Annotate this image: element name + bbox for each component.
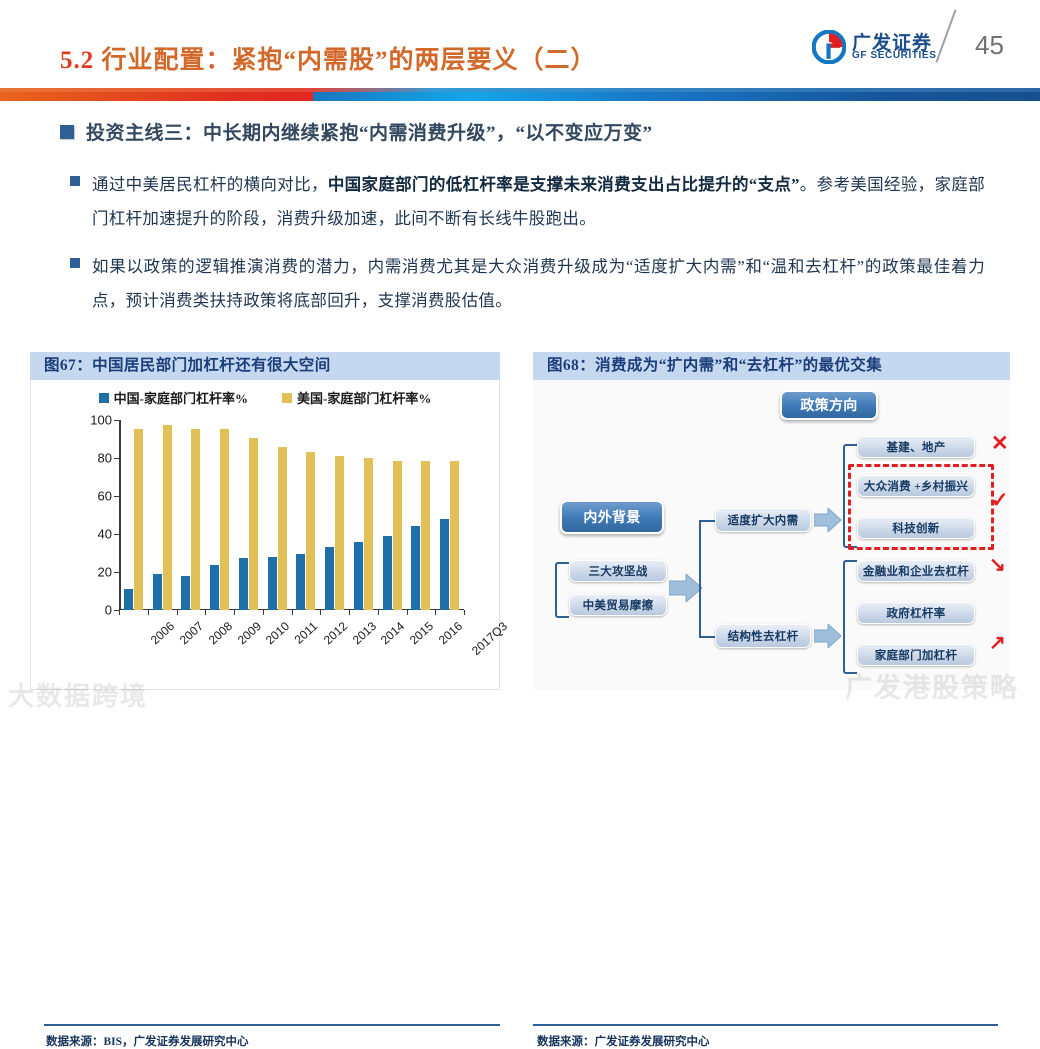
arrow-deleverage-to-right-icon [814,624,842,648]
bar-china [124,589,133,610]
x-axis-tick-label: 2012 [321,619,350,647]
bar-usa [278,447,287,610]
logo-english-text: GF SECURITIES [852,50,936,61]
mark-down-arrow-icon: ↘ [989,552,1006,577]
logo-mark-icon [812,30,846,64]
section-subheading-label: 投资主线三：中长期内继续紧抱“内需消费升级”，“以不变应万变” [86,118,653,145]
bar-chart-plot-area: 0204060801002006200720082009201020112012… [119,420,464,610]
node-household-leverage[interactable]: 家庭部门加杠杆 [857,644,975,666]
bar-china [411,526,420,610]
bar-group [292,420,321,610]
arrow-demand-to-right-icon [814,508,842,532]
bar-usa [134,429,143,610]
figure-68-panel: 图68：消费成为“扩内需”和“去杠杆”的最优交集 政策方向 内外背景 三大攻坚战… [533,352,1010,690]
y-axis-tick-label: 80 [98,451,112,466]
policy-flow-diagram: 政策方向 内外背景 三大攻坚战 中美贸易摩擦 适度扩大内需 结构性去杠杆 [533,380,1010,690]
figure-67-source: 数据来源：BIS，广发证券发展研究中心 [46,1033,249,1049]
legend-swatch-usa [282,393,292,403]
x-axis-tick-mark [349,610,350,615]
x-axis-tick-mark [292,610,293,615]
node-expand-demand[interactable]: 适度扩大内需 [715,508,811,532]
bar-usa [220,429,229,610]
bar-usa [306,452,315,610]
page-title: 5.2 行业配置：紧抱“内需股”的两层要义（二） [60,40,597,76]
y-axis-tick-label: 20 [98,565,112,580]
bar-group [263,420,292,610]
bar-usa [393,461,402,610]
x-axis-tick-label: 2013 [350,619,379,647]
bar-usa [163,425,172,610]
figure-68-source-rule [533,1024,998,1026]
bar-group [435,420,464,610]
node-finance-corp-deleverage[interactable]: 金融业和企业去杠杆 [857,560,975,582]
bar-usa [450,461,459,610]
node-policy-direction[interactable]: 政策方向 [780,390,878,420]
figure-67-body: 中国-家庭部门杠杆率% 美国-家庭部门杠杆率% 0204060801002006… [30,380,500,690]
x-axis-tick-mark [263,610,264,615]
bar-group [378,420,407,610]
page-number: 45 [975,30,1004,61]
legend-item-usa: 美国-家庭部门杠杆率% [282,388,431,407]
x-axis-tick-label: 2014 [378,619,407,647]
bar-china [440,519,449,610]
legend-item-china: 中国-家庭部门杠杆率% [99,388,248,407]
node-three-battles[interactable]: 三大攻坚战 [569,560,667,582]
figure-68-source: 数据来源：广发证券发展研究中心 [537,1033,710,1049]
mark-cross-icon: ✕ [991,431,1009,456]
x-axis-tick-mark [234,610,235,615]
section-subheading: 投资主线三：中长期内继续紧抱“内需消费升级”，“以不变应万变” [60,118,653,145]
node-government-leverage[interactable]: 政府杠杆率 [857,602,975,624]
bar-china [181,576,190,610]
bullet-square-icon [60,125,74,139]
y-axis-tick-label: 0 [105,603,112,618]
bar-china [268,557,277,610]
x-axis-tick-mark [320,610,321,615]
slide-header: 5.2 行业配置：紧抱“内需股”的两层要义（二） 广发证券 GF SECURIT… [0,0,1040,100]
header-accent-bar [0,92,1040,101]
x-axis-tick-mark [435,610,436,615]
gf-securities-logo: 广发证券 GF SECURITIES [812,28,940,68]
x-axis-tick-label: 2016 [436,619,465,647]
figure-67-source-rule [44,1024,500,1026]
connector-middle-top [699,520,715,522]
x-axis-tick-label: 2007 [177,619,206,647]
x-axis-tick-mark [205,610,206,615]
x-axis-tick-mark [177,610,178,615]
figure-67-title: 图67：中国居民部门加杠杆还有很大空间 [30,352,500,380]
connector-middle-vertical [699,520,701,638]
title-number: 5.2 [60,47,94,74]
x-axis-tick-mark [407,610,408,615]
bar-group [320,420,349,610]
bar-group [177,420,206,610]
x-axis-tick-mark [378,610,379,615]
x-axis-tick-label: 2011 [292,619,321,647]
bar-china [354,542,363,610]
x-axis-tick-label: 2006 [148,619,177,647]
legend-swatch-china [99,393,109,403]
bullet-square-icon [70,258,80,268]
bar-group [205,420,234,610]
bar-group [119,420,148,610]
paragraph-1-text: 通过中美居民杠杆的横向对比，中国家庭部门的低杠杆率是支撑未来消费支出占比提升的“… [92,168,985,236]
bar-usa [249,438,258,610]
bar-usa [364,458,373,610]
bracket-left-group [555,562,569,618]
mark-up-arrow-icon: ↗ [989,630,1006,655]
x-axis-tick-label: 2017Q3 [469,619,510,658]
paragraph-1: 通过中美居民杠杆的横向对比，中国家庭部门的低杠杆率是支撑未来消费支出占比提升的“… [70,168,985,236]
paragraph-2: 如果以政策的逻辑推演消费的潜力，内需消费尤其是大众消费升级成为“适度扩大内需”和… [70,250,985,318]
legend-label-china: 中国-家庭部门杠杆率% [114,388,248,407]
x-axis-tick-mark [148,610,149,615]
x-axis-tick-label: 2009 [235,619,264,647]
node-infra-realestate[interactable]: 基建、地产 [857,436,975,458]
mark-check-icon: ✓ [991,488,1009,513]
paragraph-1-part-a: 通过中美居民杠杆的横向对比， [92,175,328,194]
bracket-right-lower [843,560,857,674]
figure-68-body: 政策方向 内外背景 三大攻坚战 中美贸易摩擦 适度扩大内需 结构性去杠杆 [533,380,1010,690]
chart-legend: 中国-家庭部门杠杆率% 美国-家庭部门杠杆率% [31,388,499,407]
x-axis-tick-label: 2015 [407,619,436,647]
paragraph-2-text: 如果以政策的逻辑推演消费的潜力，内需消费尤其是大众消费升级成为“适度扩大内需”和… [92,250,985,318]
arrow-left-to-middle-icon [669,574,703,602]
bar-china [210,565,219,610]
bar-usa [191,429,200,610]
x-axis-tick-mark [119,610,120,615]
node-structural-deleverage[interactable]: 结构性去杠杆 [715,624,811,648]
bullet-square-icon [70,176,80,186]
bar-china [383,536,392,610]
figure-67-panel: 图67：中国居民部门加杠杆还有很大空间 中国-家庭部门杠杆率% 美国-家庭部门杠… [30,352,500,690]
bar-china [296,554,305,610]
connector-middle-bottom [699,636,715,638]
bar-china [153,574,162,610]
bar-china [325,547,334,610]
paragraph-1-part-b-bold: 中国家庭部门的低杠杆率是支撑未来消费支出占比提升的“支点” [328,175,800,194]
y-axis-tick-label: 60 [98,489,112,504]
bar-group [234,420,263,610]
y-axis-tick-label: 40 [98,527,112,542]
x-axis-tick-mark [464,610,465,615]
title-text: 行业配置：紧抱“内需股”的两层要义（二） [94,47,596,74]
bar-group [349,420,378,610]
legend-label-usa: 美国-家庭部门杠杆率% [297,388,431,407]
node-trade-friction[interactable]: 中美贸易摩擦 [569,594,667,616]
bar-china [239,558,248,610]
x-axis-tick-label: 2010 [263,619,292,647]
bar-group [148,420,177,610]
y-axis-tick-label: 100 [90,413,112,428]
highlight-dashed-box [848,464,994,550]
x-axis-tick-label: 2008 [206,619,235,647]
bar-group [407,420,436,610]
bar-usa [335,456,344,610]
bar-usa [421,461,430,610]
node-background[interactable]: 内外背景 [560,500,664,534]
figure-68-title: 图68：消费成为“扩内需”和“去杠杆”的最优交集 [533,352,1010,380]
